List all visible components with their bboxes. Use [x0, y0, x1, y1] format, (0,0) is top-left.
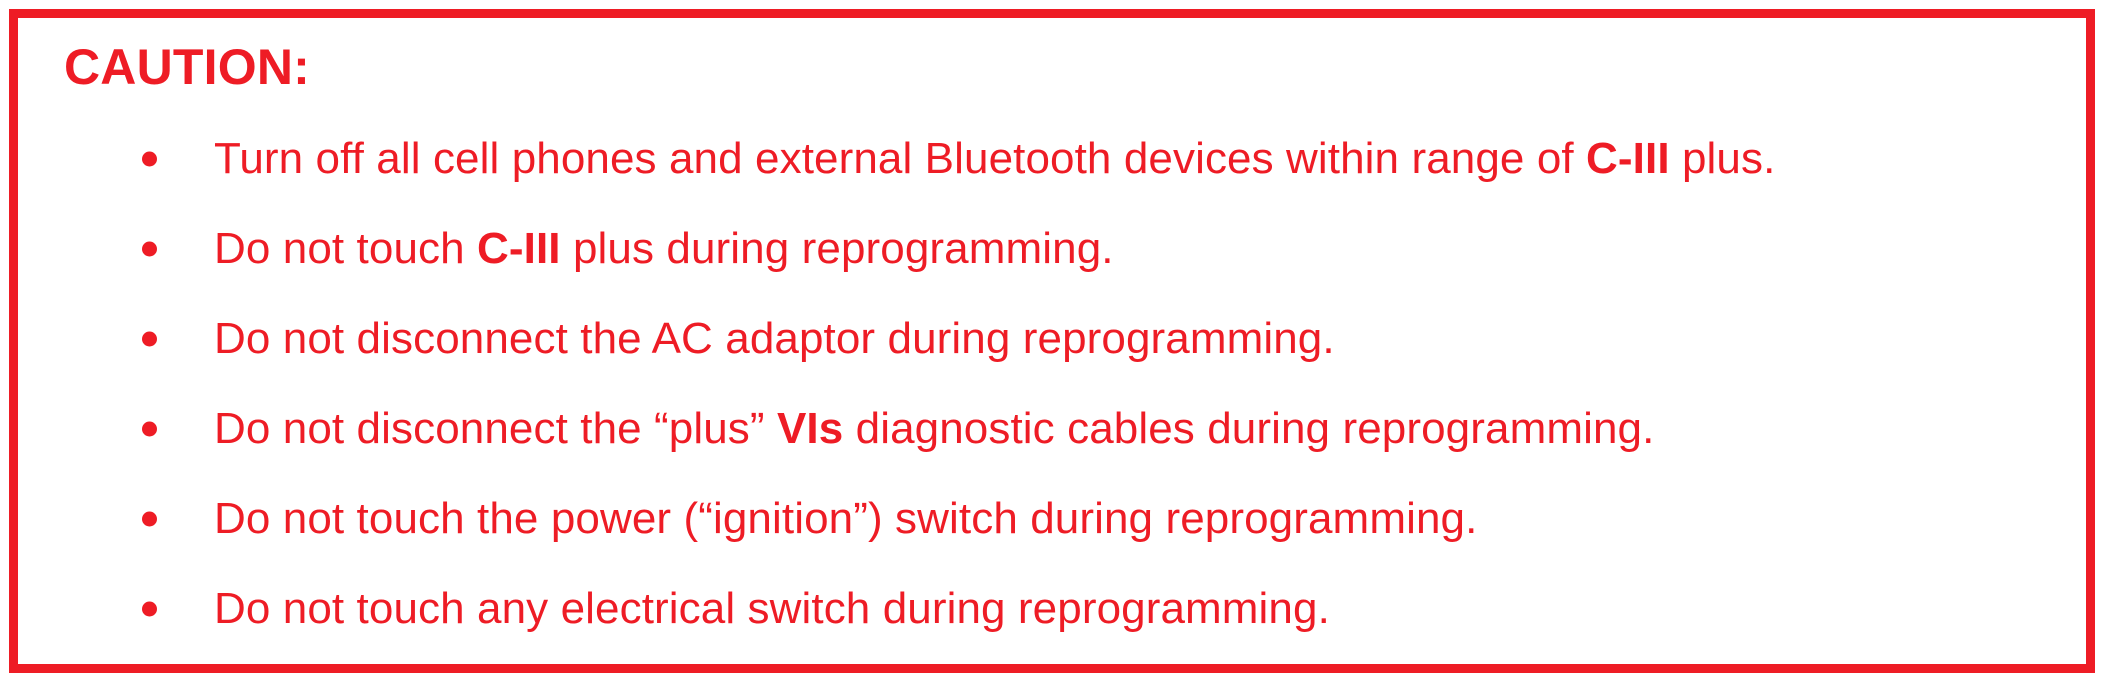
caution-item-emphasis: VIs — [777, 404, 843, 453]
caution-item-text: Do not touch C-III plus during reprogram… — [214, 224, 1114, 274]
caution-item-span: plus during reprogramming. — [561, 224, 1114, 273]
caution-list-item: Do not disconnect the AC adaptor during … — [18, 294, 2086, 384]
caution-list-item: Do not touch the power (“ignition”) swit… — [18, 474, 2086, 564]
caution-item-span: Do not disconnect the “plus” — [214, 404, 777, 453]
caution-item-span: diagnostic cables during reprogramming. — [843, 404, 1654, 453]
caution-list-item: Do not disconnect the “plus” VIs diagnos… — [18, 384, 2086, 474]
caution-item-span: Turn off all cell phones and external Bl… — [214, 134, 1586, 183]
bullet-dot-icon — [142, 242, 157, 257]
bullet-dot-icon — [142, 422, 157, 437]
bullet-dot-icon — [142, 152, 157, 167]
caution-item-span: Do not touch — [214, 224, 477, 273]
caution-item-text: Do not touch any electrical switch durin… — [214, 584, 1330, 634]
bullet-dot-icon — [142, 332, 157, 347]
caution-item-span: Do not touch any electrical switch durin… — [214, 584, 1330, 633]
caution-item-text: Do not disconnect the “plus” VIs diagnos… — [214, 404, 1654, 454]
caution-item-text: Do not touch the power (“ignition”) swit… — [214, 494, 1477, 544]
bullet-dot-icon — [142, 512, 157, 527]
caution-heading: CAUTION: — [64, 38, 310, 96]
caution-item-span: Do not disconnect the AC adaptor during … — [214, 314, 1335, 363]
bullet-dot-icon — [142, 602, 157, 617]
caution-notice-panel: CAUTION: Turn off all cell phones and ex… — [9, 9, 2095, 673]
caution-item-text: Turn off all cell phones and external Bl… — [214, 134, 1775, 184]
caution-item-span: plus. — [1670, 134, 1776, 183]
caution-item-span: Do not touch the power (“ignition”) swit… — [214, 494, 1477, 543]
caution-list-item: Turn off all cell phones and external Bl… — [18, 114, 2086, 204]
caution-list-item: Do not touch any electrical switch durin… — [18, 564, 2086, 654]
caution-bullet-list: Turn off all cell phones and external Bl… — [18, 114, 2086, 654]
caution-item-emphasis: C-III — [477, 224, 561, 273]
caution-list-item: Do not touch C-III plus during reprogram… — [18, 204, 2086, 294]
caution-item-text: Do not disconnect the AC adaptor during … — [214, 314, 1335, 364]
caution-item-emphasis: C-III — [1586, 134, 1670, 183]
